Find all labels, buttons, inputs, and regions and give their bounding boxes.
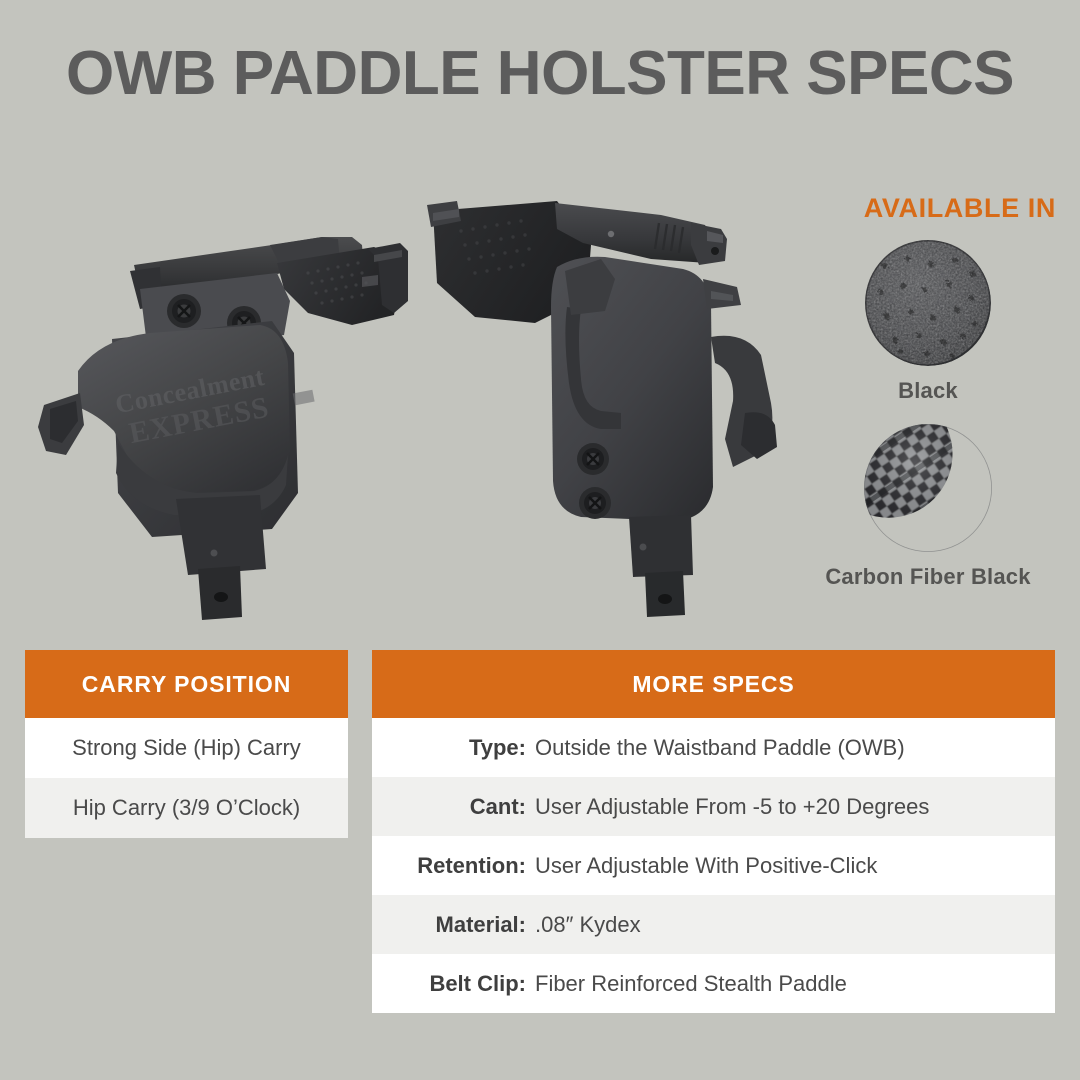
carry-position-value: Strong Side (Hip) Carry bbox=[72, 735, 301, 761]
table-row: Type: Outside the Waistband Paddle (OWB) bbox=[372, 718, 1055, 777]
swatch-label-black: Black bbox=[800, 378, 1056, 404]
color-swatch-group: Black bbox=[800, 240, 1056, 590]
more-specs-table: More Specs Type: Outside the Waistband P… bbox=[372, 650, 1055, 1013]
spec-label: Type: bbox=[372, 735, 535, 761]
carry-position-value: Hip Carry (3/9 O’Clock) bbox=[73, 795, 300, 821]
table-row: Cant: User Adjustable From -5 to +20 Deg… bbox=[372, 777, 1055, 836]
spec-value: Outside the Waistband Paddle (OWB) bbox=[535, 735, 1055, 761]
carry-position-table: Carry Position Strong Side (Hip) Carry H… bbox=[25, 650, 348, 838]
spec-value: Fiber Reinforced Stealth Paddle bbox=[535, 971, 1055, 997]
table-row: Belt Clip: Fiber Reinforced Stealth Padd… bbox=[372, 954, 1055, 1013]
spec-label: Material: bbox=[372, 912, 535, 938]
available-in-heading: Available In bbox=[736, 193, 1056, 224]
more-specs-header: More Specs bbox=[372, 650, 1055, 718]
holster-front-view-image: Concealment EXPRESS bbox=[22, 193, 412, 623]
spec-value: User Adjustable From -5 to +20 Degrees bbox=[535, 794, 1055, 820]
swatch-carbon-fiber-black[interactable]: Carbon Fiber Black bbox=[800, 424, 1056, 590]
table-row: Retention: User Adjustable With Positive… bbox=[372, 836, 1055, 895]
table-row: Hip Carry (3/9 O’Clock) bbox=[25, 778, 348, 838]
infographic-page: OWB Paddle Holster Specs bbox=[0, 0, 1080, 1080]
product-image-stage: Concealment EXPRESS bbox=[0, 185, 810, 635]
page-title: OWB Paddle Holster Specs bbox=[0, 44, 1080, 105]
table-row: Strong Side (Hip) Carry bbox=[25, 718, 348, 778]
black-swatch-icon bbox=[865, 240, 991, 366]
spec-label: Retention: bbox=[372, 853, 535, 879]
holster-rear-view-image bbox=[415, 187, 805, 617]
spec-value: .08″ Kydex bbox=[535, 912, 1055, 938]
swatch-black[interactable]: Black bbox=[800, 240, 1056, 404]
carbon-fiber-swatch-icon bbox=[864, 424, 992, 552]
spec-value: User Adjustable With Positive-Click bbox=[535, 853, 1055, 879]
table-row: Material: .08″ Kydex bbox=[372, 895, 1055, 954]
carry-position-header: Carry Position bbox=[25, 650, 348, 718]
spec-label: Belt Clip: bbox=[372, 971, 535, 997]
swatch-label-carbon-fiber-black: Carbon Fiber Black bbox=[800, 564, 1056, 590]
spec-label: Cant: bbox=[372, 794, 535, 820]
